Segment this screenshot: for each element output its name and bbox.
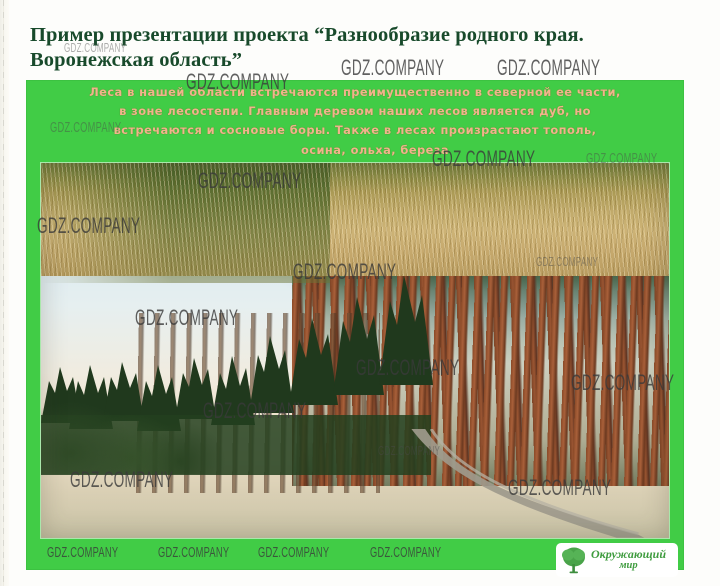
page-title-line2: Воронежская область” <box>30 49 242 71</box>
page-title-line1: Пример презентации проекта “Разнообразие… <box>30 24 584 46</box>
slide-caption: Леса в нашей области встречаются преимущ… <box>26 83 684 160</box>
caption-line-3: встречаются и сосновые боры. Также в лес… <box>34 121 676 140</box>
brand-logo-text: Окружающий мир <box>591 548 666 572</box>
brand-logo-line1: Окружающий <box>591 547 666 561</box>
scanned-page-edge <box>0 0 9 586</box>
page-edge-rule <box>3 0 4 586</box>
page-title: Пример презентации проекта “Разнообразие… <box>30 23 670 73</box>
forest-photo <box>41 163 669 538</box>
tree-icon <box>561 546 587 574</box>
presentation-slide: Леса в нашей области встречаются преимущ… <box>26 80 684 570</box>
caption-line-4: осина, ольха, береза <box>34 141 676 160</box>
brand-logo: Окружающий мир <box>556 543 678 577</box>
caption-line-1: Леса в нашей области встречаются преимущ… <box>34 83 676 102</box>
photo-vignette <box>41 163 669 538</box>
caption-line-2: в зоне лесостепи. Главным деревом наших … <box>34 102 676 121</box>
brand-logo-line2: мир <box>591 560 666 572</box>
